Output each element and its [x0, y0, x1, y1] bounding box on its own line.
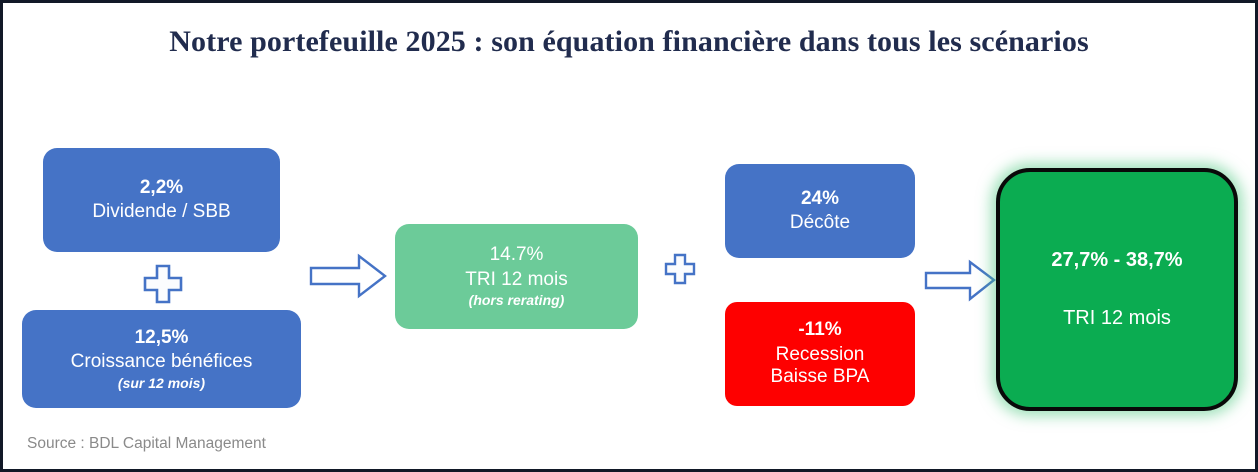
- node-final-label: TRI 12 mois: [1063, 307, 1171, 331]
- node-growth-note: (sur 12 mois): [118, 375, 205, 392]
- node-decote-label: Décôte: [790, 212, 850, 234]
- node-growth-label: Croissance bénéfices: [71, 351, 253, 373]
- node-decote-value: 24%: [801, 188, 839, 210]
- arrow-right-icon-1: [309, 252, 387, 300]
- arrow-right-icon-2: [924, 258, 996, 303]
- node-dividend: 2,2% Dividende / SBB: [43, 148, 280, 252]
- node-final-result: 27,7% - 38,7% TRI 12 mois: [996, 168, 1238, 411]
- node-recession-label-line1: Recession: [776, 344, 865, 366]
- node-tri-value: 14.7%: [490, 244, 544, 266]
- page-title: Notre portefeuille 2025 : son équation f…: [3, 25, 1255, 59]
- node-tri-label: TRI 12 mois: [465, 269, 567, 291]
- source-note: Source : BDL Capital Management: [27, 435, 266, 453]
- figure-container: Notre portefeuille 2025 : son équation f…: [0, 0, 1258, 472]
- node-tri-intermediate: 14.7% TRI 12 mois (hors rerating): [395, 224, 638, 329]
- node-recession-value: -11%: [798, 319, 841, 341]
- node-growth-value: 12,5%: [135, 327, 189, 349]
- node-final-value: 27,7% - 38,7%: [1051, 249, 1182, 273]
- node-decote: 24% Décôte: [725, 164, 915, 258]
- node-growth: 12,5% Croissance bénéfices (sur 12 mois): [22, 310, 301, 408]
- plus-icon-right: [664, 253, 696, 285]
- node-dividend-value: 2,2%: [140, 177, 183, 199]
- node-recession-label-line2: Baisse BPA: [771, 366, 870, 388]
- node-tri-note: (hors rerating): [469, 292, 565, 309]
- node-dividend-label: Dividende / SBB: [92, 201, 230, 223]
- plus-icon-left: [142, 263, 184, 305]
- node-recession: -11% Recession Baisse BPA: [725, 302, 915, 406]
